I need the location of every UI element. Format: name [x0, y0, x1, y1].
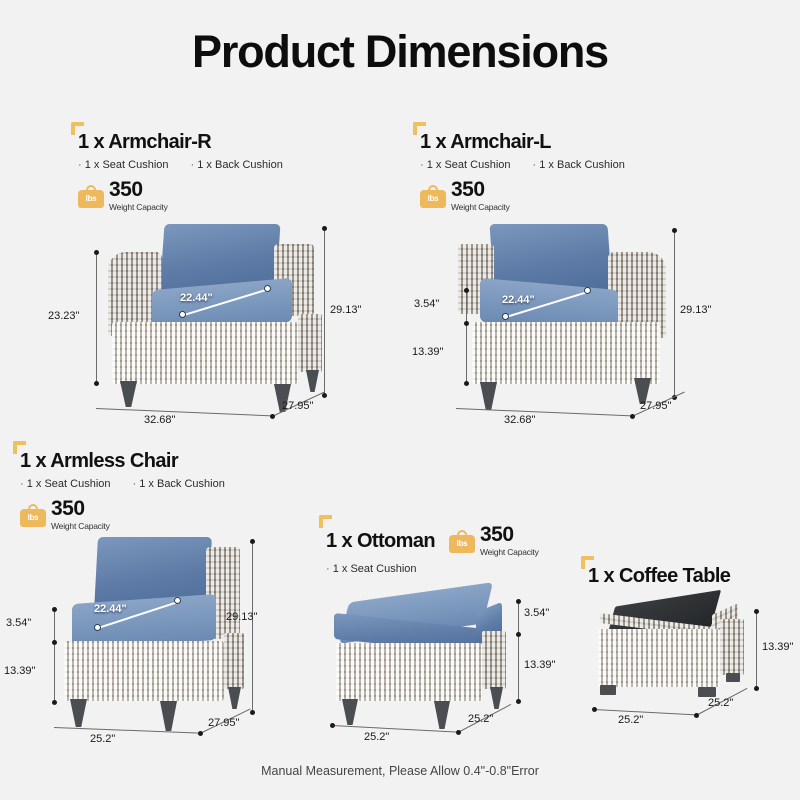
weight-unit-label: lbs [20, 509, 46, 527]
cushion-list: 1 x Seat Cushion 1 x Back Cushion [420, 159, 688, 171]
leg [480, 382, 497, 410]
corner-bracket-icon [581, 556, 594, 569]
weight-caption: Weight Capacity [51, 521, 110, 531]
product-header-armless-chair: 1 x Armless Chair 1 x Seat Cushion 1 x B… [20, 450, 270, 531]
cushion-list-item: 1 x Seat Cushion [326, 563, 417, 575]
leg [490, 687, 503, 709]
cushion-list-item: 1 x Back Cushion [191, 159, 283, 171]
dim-label-width: 25.2" [90, 733, 115, 745]
weight-capacity-badge: lbs 350 Weight Capacity [420, 179, 688, 212]
leg [160, 701, 177, 731]
cushion-list-item: 1 x Back Cushion [533, 159, 625, 171]
dim-label-depth: 25.2" [708, 697, 733, 709]
cushion-list-item: 1 x Seat Cushion [420, 159, 511, 171]
product-title: 1 x Armchair-L [420, 131, 551, 153]
base-frame-side [298, 314, 322, 372]
weight-icon: lbs [449, 529, 475, 553]
product-figure-coffee-table: 13.39" 25.2" 25.2" [588, 597, 778, 747]
corner-bracket-icon [413, 122, 426, 135]
leg [434, 701, 450, 729]
weight-icon: lbs [420, 184, 446, 208]
dim-line-base-height [466, 326, 467, 384]
dim-label-width: 25.2" [364, 731, 389, 743]
leg [306, 370, 319, 392]
cushion-list-item: 1 x Seat Cushion [78, 159, 169, 171]
corner-bracket-icon [71, 122, 84, 135]
dim-line-total-height [324, 228, 325, 396]
foot [600, 685, 616, 695]
weight-unit-label: lbs [78, 190, 104, 208]
dim-label-depth: 27.95" [282, 400, 313, 412]
dim-line-cushion-thickness [54, 609, 55, 643]
cushion-list: 1 x Seat Cushion 1 x Back Cushion [20, 478, 270, 490]
cushion-list: 1 x Seat Cushion [326, 563, 556, 575]
cushion-list: 1 x Seat Cushion 1 x Back Cushion [78, 159, 338, 171]
dim-label-seatback-height: 23.23" [48, 310, 79, 322]
foot [698, 687, 716, 697]
leg [70, 699, 87, 727]
dim-label-width: 25.2" [618, 714, 643, 726]
dim-label-cushion-thickness: 3.54" [6, 617, 31, 629]
weight-unit-label: lbs [420, 190, 446, 208]
leg [120, 381, 137, 407]
dim-line-base-height [54, 645, 55, 703]
base-frame-side [482, 631, 506, 689]
product-title: 1 x Armless Chair [20, 450, 178, 472]
dim-line-seatback [96, 252, 97, 384]
dim-label-base-height: 13.39" [412, 346, 443, 358]
dim-line-cushion-thickness [466, 290, 467, 324]
seat-diagonal-label: 22.44" [94, 603, 127, 615]
product-panel-armchair-r: 1 x Armchair-R 1 x Seat Cushion 1 x Back… [78, 131, 338, 478]
weight-capacity-badge: lbs 350 Weight Capacity [449, 524, 539, 557]
weight-caption: Weight Capacity [109, 202, 168, 212]
weight-caption: Weight Capacity [480, 547, 539, 557]
weight-value: 350 [480, 524, 539, 545]
dim-label-cushion-thickness: 3.54" [414, 298, 439, 310]
dim-line-total-height [252, 541, 253, 713]
dim-label-height: 13.39" [762, 641, 793, 653]
seat-diagonal-label: 22.44" [502, 294, 535, 306]
weight-caption: Weight Capacity [451, 202, 510, 212]
product-figure-armless-chair: 22.44" 3.54" 13.39" 29.13" 25.2" 27.95" [20, 533, 270, 773]
product-header-coffee-table: 1 x Coffee Table [588, 565, 778, 587]
product-panel-armless-chair: 1 x Armless Chair 1 x Seat Cushion 1 x B… [20, 450, 270, 773]
weight-unit-label: lbs [449, 535, 475, 553]
base-frame [64, 641, 224, 701]
product-title: 1 x Armchair-R [78, 131, 211, 153]
cushion-list-item: 1 x Back Cushion [133, 478, 225, 490]
product-figure-ottoman: 3.54" 13.39" 25.2" 25.2" [326, 587, 556, 777]
weight-capacity-badge: lbs 350 Weight Capacity [20, 498, 270, 531]
table-body-side [720, 619, 744, 675]
product-title: 1 x Ottoman [326, 530, 435, 552]
dim-label-base-height: 13.39" [524, 659, 555, 671]
dim-line-total-height [674, 230, 675, 398]
seat-diagonal-label: 22.44" [180, 292, 213, 304]
product-panel-armchair-l: 1 x Armchair-L 1 x Seat Cushion 1 x Back… [420, 131, 688, 478]
corner-bracket-icon [319, 515, 332, 528]
dim-label-depth: 25.2" [468, 713, 493, 725]
dim-line-width [96, 408, 272, 416]
product-header-ottoman: 1 x Ottoman lbs 350 Weight Capacity 1 x … [326, 524, 556, 575]
weight-icon: lbs [20, 503, 46, 527]
product-header-armchair-l: 1 x Armchair-L 1 x Seat Cushion 1 x Back… [420, 131, 688, 212]
dim-line-base-height [518, 637, 519, 701]
product-panel-coffee-table: 1 x Coffee Table 13.39" 25.2" [588, 565, 778, 747]
leg [342, 699, 358, 725]
dim-label-total-height: 29.13" [680, 304, 711, 316]
base-frame [472, 322, 660, 384]
dim-label-width: 32.68" [144, 414, 175, 426]
weight-icon: lbs [78, 184, 104, 208]
dim-line-height [756, 611, 757, 689]
page-title: Product Dimensions [0, 26, 800, 78]
weight-value: 350 [451, 179, 510, 200]
weight-value: 350 [109, 179, 168, 200]
product-dimensions-infographic: Product Dimensions 1 x Armchair-R 1 x Se… [0, 0, 800, 800]
dim-label-total-height: 29.13" [226, 611, 257, 623]
foot [726, 673, 740, 682]
product-header-armchair-r: 1 x Armchair-R 1 x Seat Cushion 1 x Back… [78, 131, 338, 212]
dim-label-width: 32.68" [504, 414, 535, 426]
base-frame-side [224, 633, 244, 689]
dim-line-cushion-thickness [518, 601, 519, 635]
footer-note: Manual Measurement, Please Allow 0.4"-0.… [0, 764, 800, 778]
dim-label-total-height: 29.13" [330, 304, 361, 316]
dim-label-cushion-thickness: 3.54" [524, 607, 549, 619]
dim-line-width [54, 727, 200, 734]
weight-capacity-badge: lbs 350 Weight Capacity [78, 179, 338, 212]
table-body [598, 629, 720, 687]
dim-line-width [456, 408, 632, 416]
corner-bracket-icon [13, 441, 26, 454]
product-figure-armchair-l: 22.44" 3.54" 13.39" 29.13" 32.68" 27.95" [420, 218, 688, 478]
product-title: 1 x Coffee Table [588, 565, 730, 587]
dim-line-width [594, 709, 696, 715]
leg [228, 687, 241, 709]
base-frame [112, 322, 298, 384]
dim-label-base-height: 13.39" [4, 665, 35, 677]
base-frame [336, 643, 482, 701]
cushion-list-item: 1 x Seat Cushion [20, 478, 111, 490]
dim-label-depth: 27.95" [208, 717, 239, 729]
product-panel-ottoman: 1 x Ottoman lbs 350 Weight Capacity 1 x … [326, 524, 556, 777]
weight-value: 350 [51, 498, 110, 519]
dim-label-depth: 27.95" [640, 400, 671, 412]
product-figure-armchair-r: 22.44" 23.23" 29.13" 32.68" 27.95" [78, 218, 338, 478]
